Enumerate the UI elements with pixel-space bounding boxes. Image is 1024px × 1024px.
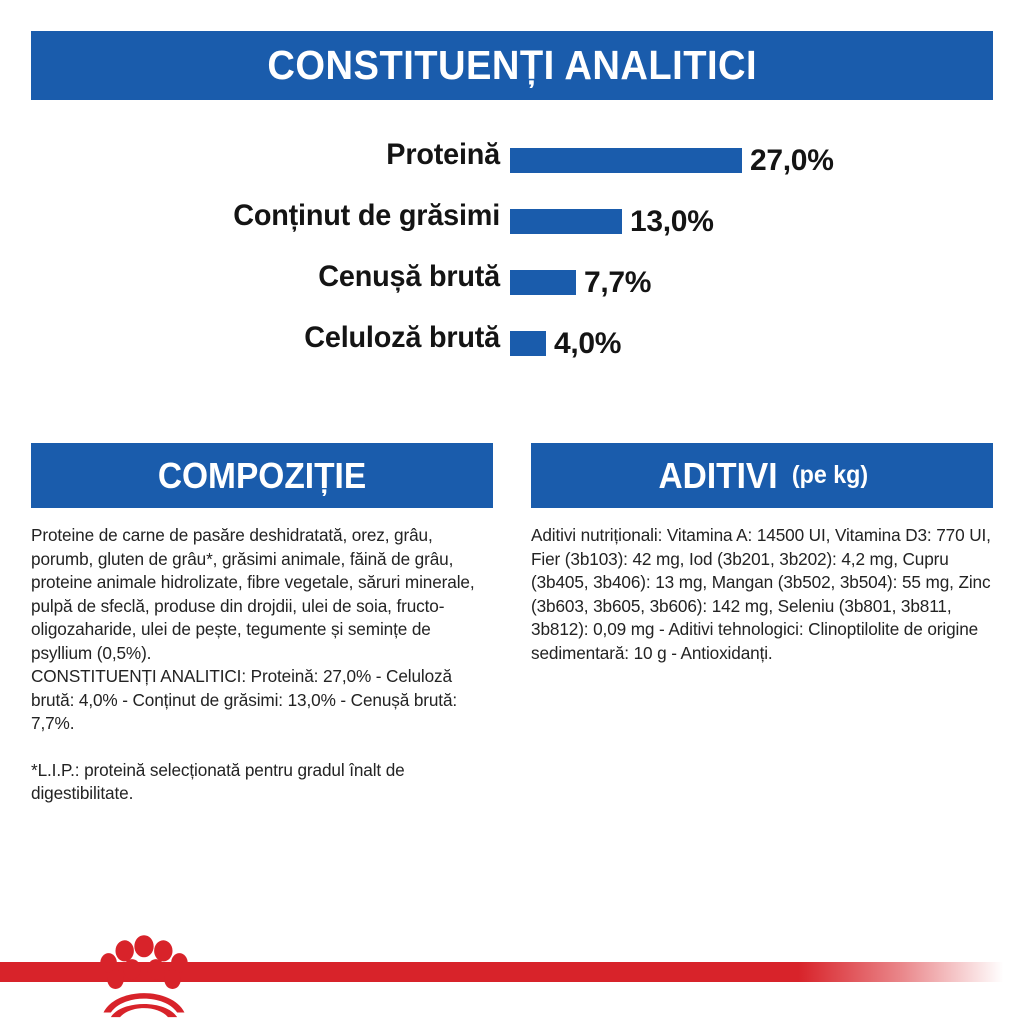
chart-value-label: 7,7% [584,270,651,295]
page-title: CONSTITUENȚI ANALITICI [267,45,757,86]
royal-canin-crown-icon [98,926,190,1018]
composition-analytical-constituents: CONSTITUENȚI ANALITICI: Proteină: 27,0% … [31,665,493,736]
chart-category-label: Celuloză brută [20,323,500,353]
additives-section: ADITIVI (pe kg) Aditivi nutriționali: Vi… [531,443,993,806]
composition-body: Proteine de carne de pasăre deshidratată… [31,524,493,806]
chart-category-label: Proteină [20,140,500,170]
chart-row: Cenușă brută 7,7% [0,254,1024,315]
chart-bar [510,148,742,173]
chart-category-label: Cenușă brută [20,262,500,292]
chart-value-label: 27,0% [750,148,834,173]
chart-bar-group: 7,7% [510,270,651,295]
composition-header: COMPOZIȚIE [31,443,493,508]
chart-value-label: 13,0% [630,209,714,234]
info-sections: COMPOZIȚIE Proteine de carne de pasăre d… [31,443,993,806]
analytical-constituents-header: CONSTITUENȚI ANALITICI [31,31,993,100]
chart-bar-group: 27,0% [510,148,834,173]
composition-title: COMPOZIȚIE [158,458,366,494]
additives-title: ADITIVI [658,458,777,494]
chart-row: Proteină 27,0% [0,132,1024,193]
chart-bar [510,209,622,234]
composition-footnote: *L.I.P.: proteină selecționată pentru gr… [31,759,493,806]
chart-bar-group: 13,0% [510,209,714,234]
chart-row: Celuloză brută 4,0% [0,315,1024,376]
additives-list: Aditivi nutriționali: Vitamina A: 14500 … [531,524,993,665]
additives-subtitle: (pe kg) [791,463,867,488]
additives-header: ADITIVI (pe kg) [531,443,993,508]
chart-bar-group: 4,0% [510,331,621,356]
additives-body: Aditivi nutriționali: Vitamina A: 14500 … [531,524,993,665]
chart-bar [510,331,546,356]
composition-ingredients: Proteine de carne de pasăre deshidratată… [31,524,493,665]
chart-row: Conținut de grăsimi 13,0% [0,193,1024,254]
chart-category-label: Conținut de grăsimi [20,201,500,231]
footer [0,920,1024,1024]
composition-section: COMPOZIȚIE Proteine de carne de pasăre d… [31,443,493,806]
chart-value-label: 4,0% [554,331,621,356]
analytical-constituents-chart: Proteină 27,0% Conținut de grăsimi 13,0%… [0,132,1024,376]
chart-bar [510,270,576,295]
